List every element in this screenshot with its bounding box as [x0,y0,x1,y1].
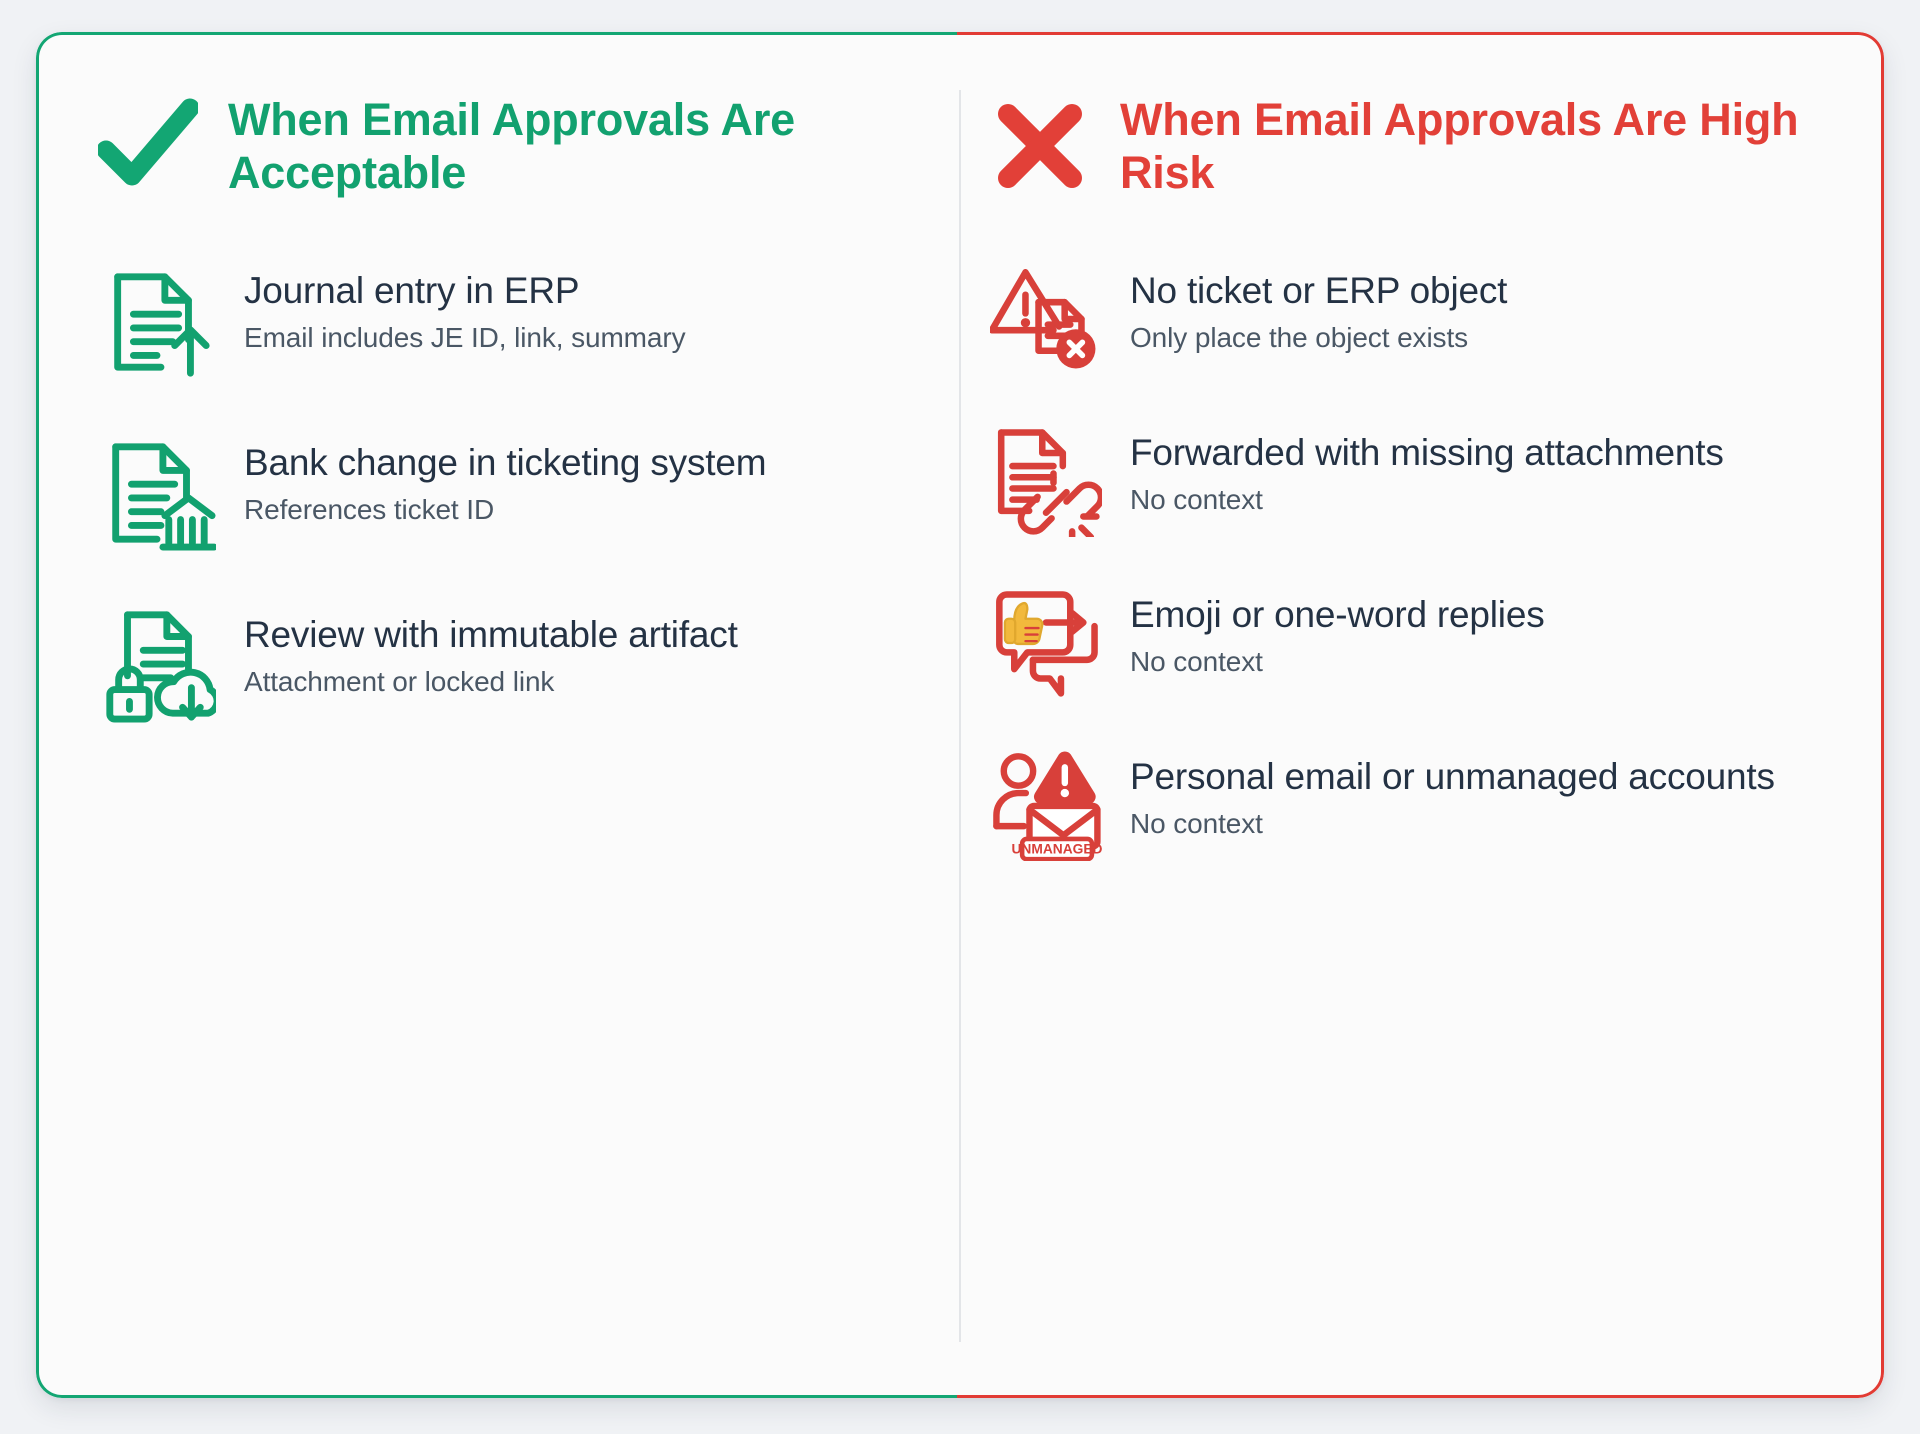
high-risk-title: When Email Approvals Are High Risk [1120,94,1824,199]
list-item: Journal entry in ERP Email includes JE I… [98,263,904,381]
list-item: Bank change in ticketing system Referenc… [98,435,904,553]
acceptable-item-list: Journal entry in ERP Email includes JE I… [98,263,904,725]
high-risk-header: When Email Approvals Are High Risk [990,94,1824,199]
list-item: Review with immutable artifact Attachmen… [98,607,904,725]
list-item-subtitle: Attachment or locked link [244,663,738,700]
list-item-title: Journal entry in ERP [244,267,686,315]
person-warning-envelope-icon: UNMANAGED [990,749,1102,861]
list-item-subtitle: No context [1130,805,1775,842]
list-item-title: Emoji or one-word replies [1130,591,1545,639]
infographic-stage: When Email Approvals Are Acceptable [0,0,1920,1434]
thumbs-up-emoji [1005,603,1042,644]
list-item-body: Journal entry in ERP Email includes JE I… [244,263,686,356]
list-item-subtitle: No context [1130,643,1545,680]
list-item-body: Bank change in ticketing system Referenc… [244,435,766,528]
check-mark-icon [98,98,198,194]
acceptable-title: When Email Approvals Are Acceptable [228,94,904,199]
cross-mark-icon [990,98,1090,194]
list-item-subtitle: Only place the object exists [1130,319,1507,356]
list-item: No ticket or ERP object Only place the o… [990,263,1824,375]
chat-thumbs-up-icon [990,587,1102,699]
list-item-title: Review with immutable artifact [244,611,738,659]
list-item-subtitle: No context [1130,481,1724,518]
list-item-body: Review with immutable artifact Attachmen… [244,607,738,700]
document-broken-link-icon [990,425,1102,537]
document-bank-icon [98,435,216,553]
document-upload-icon [98,263,216,381]
list-item-title: No ticket or ERP object [1130,267,1507,315]
list-item-body: Emoji or one-word replies No context [1130,587,1545,680]
list-item-title: Personal email or unmanaged accounts [1130,753,1775,801]
comparison-card: When Email Approvals Are Acceptable [36,32,1884,1398]
list-item: Forwarded with missing attachments No co… [990,425,1824,537]
list-item-subtitle: Email includes JE ID, link, summary [244,319,686,356]
list-item-body: Forwarded with missing attachments No co… [1130,425,1724,518]
unmanaged-badge-label: UNMANAGED [1012,842,1102,857]
high-risk-column: When Email Approvals Are High Risk [960,32,1884,1398]
column-divider [959,90,961,1342]
list-item-title: Forwarded with missing attachments [1130,429,1724,477]
document-lock-cloud-icon [98,607,216,725]
list-item-subtitle: References ticket ID [244,491,766,528]
list-item-body: No ticket or ERP object Only place the o… [1130,263,1507,356]
acceptable-header: When Email Approvals Are Acceptable [98,94,904,199]
list-item-title: Bank change in ticketing system [244,439,766,487]
list-item: Emoji or one-word replies No context [990,587,1824,699]
warning-document-error-icon [990,263,1102,375]
acceptable-column: When Email Approvals Are Acceptable [36,32,960,1398]
list-item-body: Personal email or unmanaged accounts No … [1130,749,1775,842]
high-risk-item-list: No ticket or ERP object Only place the o… [990,263,1824,911]
list-item: UNMANAGED Personal email or unmanaged ac… [990,749,1824,861]
